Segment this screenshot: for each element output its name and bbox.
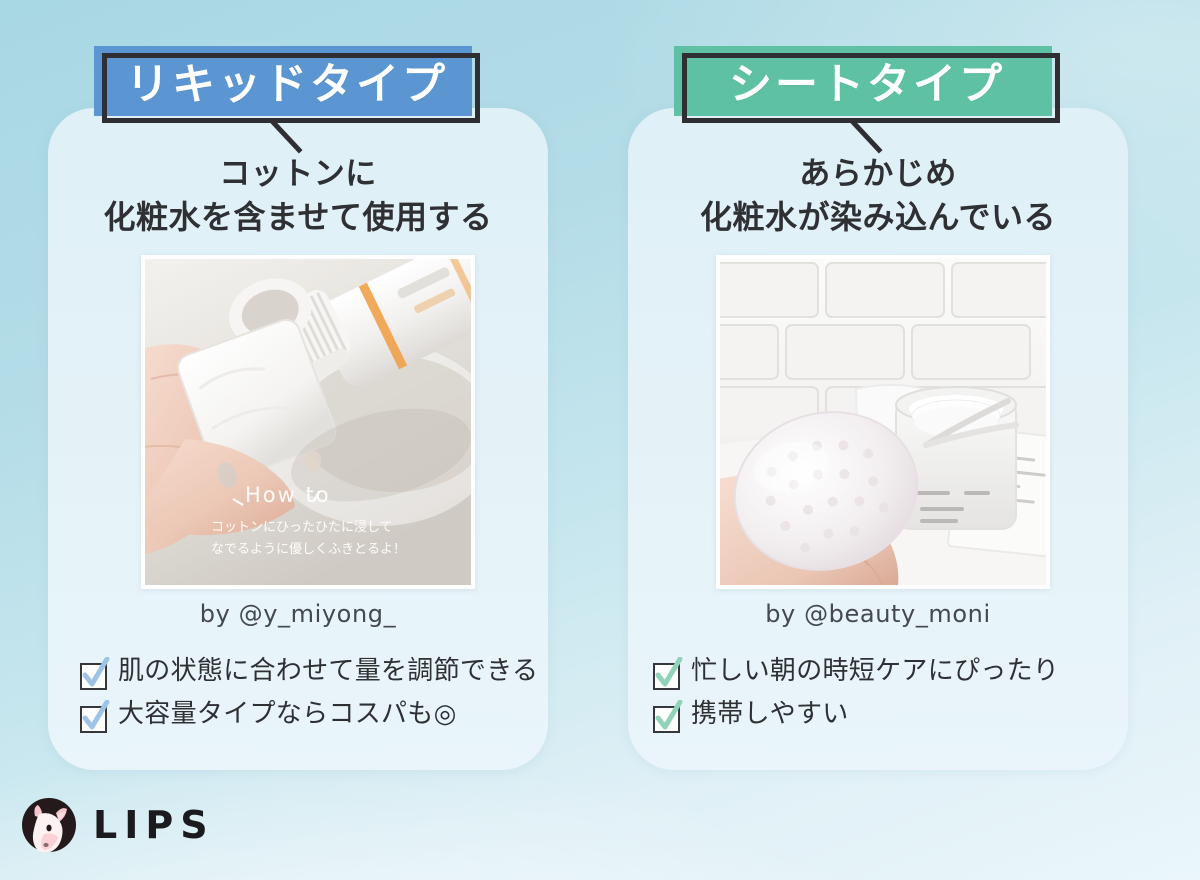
checklist-liquid: 肌の状態に合わせて量を調節できる 大容量タイプならコスパも◎ bbox=[80, 657, 538, 743]
banner-sheet: シートタイプ bbox=[674, 46, 1064, 118]
banner-tail-sheet bbox=[849, 118, 885, 154]
photo-sheet bbox=[716, 255, 1050, 589]
check-label: 肌の状態に合わせて量を調節できる bbox=[118, 657, 538, 686]
check-row: 携帯しやすい bbox=[653, 700, 1059, 733]
checklist-sheet: 忙しい朝の時短ケアにぴったり 携帯しやすい bbox=[653, 657, 1059, 743]
svg-text:なでるように優しくふきとるよ！: なでるように優しくふきとるよ！ bbox=[211, 542, 406, 557]
credit-sheet: by @beauty_moni bbox=[628, 600, 1128, 628]
banner-liquid: リキッドタイプ bbox=[94, 46, 484, 118]
photo-liquid: How to コットンにひったひたに浸して なでるように優しくふきとるよ！ bbox=[141, 255, 475, 589]
checkbox-icon bbox=[653, 706, 680, 733]
heading-liquid-line1: コットンに bbox=[48, 154, 548, 196]
check-row: 肌の状態に合わせて量を調節できる bbox=[80, 657, 538, 690]
banner-label-sheet: シートタイプ bbox=[674, 46, 1060, 116]
check-row: 大容量タイプならコスパも◎ bbox=[80, 700, 538, 733]
checkbox-icon bbox=[80, 663, 107, 690]
svg-text:コットンにひったひたに浸して: コットンにひったひたに浸して bbox=[211, 520, 393, 535]
heading-liquid-line2: 化粧水を含ませて使用する bbox=[48, 196, 548, 239]
heading-liquid: コットンに 化粧水を含ませて使用する bbox=[48, 154, 548, 238]
lips-logo: LIPS bbox=[22, 798, 215, 852]
check-label: 携帯しやすい bbox=[691, 700, 849, 729]
check-label: 忙しい朝の時短ケアにぴったり bbox=[691, 657, 1059, 686]
checkbox-icon bbox=[653, 663, 680, 690]
heading-sheet-line1: あらかじめ bbox=[628, 154, 1128, 196]
check-label: 大容量タイプならコスパも◎ bbox=[118, 700, 457, 729]
banner-label-liquid: リキッドタイプ bbox=[94, 46, 480, 116]
logo-wordmark: LIPS bbox=[93, 803, 215, 847]
check-row: 忙しい朝の時短ケアにぴったり bbox=[653, 657, 1059, 690]
credit-liquid: by @y_miyong_ bbox=[48, 600, 548, 628]
heading-sheet-line2: 化粧水が染み込んでいる bbox=[628, 196, 1128, 239]
heading-sheet: あらかじめ 化粧水が染み込んでいる bbox=[628, 154, 1128, 238]
deer-head-icon bbox=[22, 798, 76, 852]
checkbox-icon bbox=[80, 706, 107, 733]
banner-tail-liquid bbox=[269, 118, 305, 154]
